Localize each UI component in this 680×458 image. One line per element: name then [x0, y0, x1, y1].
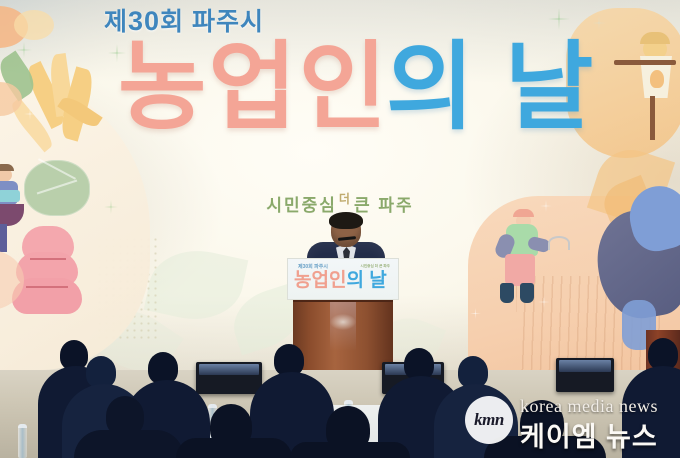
scarecrow-post: [650, 96, 655, 140]
speaker-hair: [329, 212, 363, 229]
watermark-english: korea media news: [520, 396, 658, 417]
farmer-boot: [520, 283, 534, 303]
subtitle-right: 큰 파주: [354, 196, 414, 215]
pink-leaf-vein: [26, 286, 68, 288]
news-photo: 제30회 파주시 농업인 의 날 시민중심더큰 파주 제30회 파주시 시민중심…: [0, 0, 680, 458]
kmn-logo-badge: kmn: [465, 396, 513, 444]
stage-monitor: [196, 362, 262, 394]
podium-sign-subtitle: 시민중심 더 큰 파주: [361, 264, 390, 269]
podium-sign-title: 농업인의 날: [294, 271, 387, 290]
water-bottle: [18, 424, 27, 458]
podium: 제30회 파주시 시민중심 더 큰 파주 농업인의 날: [287, 258, 399, 370]
kicker-number: 30: [128, 6, 160, 36]
scarecrow-hat: [640, 32, 670, 44]
banner-title: 농업인 의 날: [118, 40, 568, 152]
farmer-with-basket-illustration: [0, 224, 7, 252]
green-sparkle-icon: [548, 8, 570, 30]
audience-shoulders: [290, 442, 410, 458]
pink-leaf-vein: [30, 258, 66, 260]
audience-shoulders: [74, 430, 184, 458]
podium-title-blue: 의 날: [346, 270, 386, 291]
banner-title-blue: 의 날: [386, 40, 595, 136]
green-sparkle-icon: [592, 16, 606, 30]
farmer-with-basket-illustration: [0, 164, 14, 171]
kicker-prefix: 제: [104, 8, 128, 36]
sickle-illustration: [548, 236, 570, 250]
banner-kicker: 제30회 파주시: [104, 2, 264, 38]
banner-title-pink: 농업인: [118, 40, 389, 136]
podium-body: [293, 300, 393, 372]
kmn-logo-text: kmn: [474, 410, 504, 430]
audience-shoulders: [176, 438, 292, 458]
farmer-boot: [500, 283, 514, 303]
watermark-korean: 케이엠 뉴스: [520, 415, 658, 454]
scarecrow-arm-pole: [614, 60, 676, 65]
kicker-suffix: 회 파주시: [160, 8, 264, 36]
subtitle-left: 시민중심: [266, 196, 337, 215]
white-sparkle-icon: [538, 296, 550, 308]
podium-sign: 제30회 파주시 시민중심 더 큰 파주 농업인의 날: [287, 258, 399, 300]
city-emblem: [330, 314, 356, 330]
scarecrow-bird: [650, 70, 664, 88]
green-sparkle-icon: [16, 42, 32, 58]
farmer-trousers: [505, 254, 535, 286]
white-sparkle-icon: [470, 308, 481, 319]
news-watermark: kmn korea media news 케이엠 뉴스: [455, 382, 680, 458]
decor-blob: [14, 10, 54, 40]
podium-title-pink: 농업인: [294, 270, 346, 291]
white-sparkle-icon: [24, 108, 36, 120]
podium-sign-kicker: 제30회 파주시: [298, 263, 328, 270]
subtitle-mark: 더: [339, 192, 352, 206]
